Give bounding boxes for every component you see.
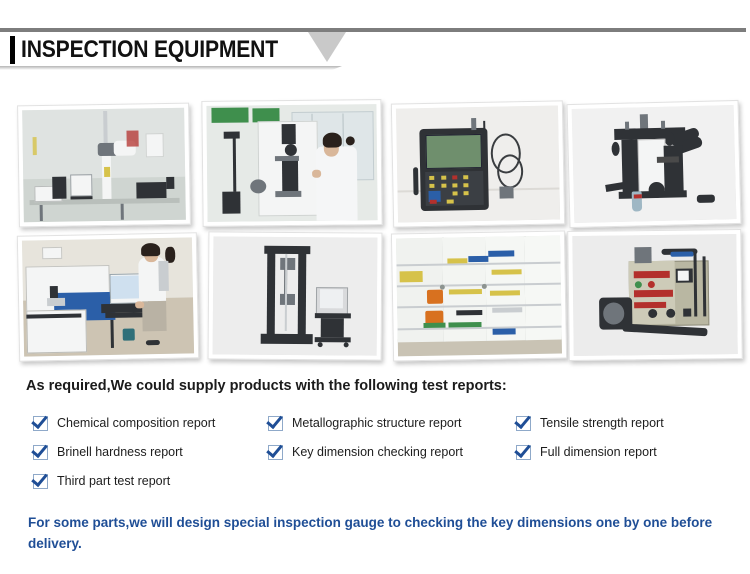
photo-image-storage-cabinets: [396, 236, 562, 357]
checkbox-checked-icon[interactable]: [516, 416, 531, 431]
report-item-tensile-strength[interactable]: Tensile strength report: [516, 416, 664, 431]
photo-card-spectrometer: [17, 232, 199, 361]
photo-card-hardness-tester: [201, 99, 382, 227]
report-item-label: Full dimension report: [540, 445, 657, 460]
equipment-photo-gallery: [0, 92, 750, 370]
photo-image-flaw-detector: [396, 105, 560, 222]
report-item-chemical-composition[interactable]: Chemical composition report: [33, 416, 215, 431]
photo-card-storage-cabinets: [391, 230, 567, 361]
checkbox-checked-icon[interactable]: [516, 445, 531, 460]
checkbox-checked-icon[interactable]: [33, 416, 48, 431]
photo-image-tensile-machine: [213, 236, 378, 355]
checkbox-checked-icon[interactable]: [33, 474, 48, 489]
checkbox-checked-icon[interactable]: [268, 416, 283, 431]
report-item-full-dimension[interactable]: Full dimension report: [516, 445, 657, 460]
photo-image-microscope: [572, 105, 737, 223]
header-notch-triangle-icon: [308, 32, 346, 62]
checkbox-checked-icon[interactable]: [33, 445, 48, 460]
checkbox-checked-icon[interactable]: [268, 445, 283, 460]
page-title: INSPECTION EQUIPMENT: [21, 35, 278, 65]
photo-image-portable-detector: [572, 234, 737, 356]
photo-image-spectrometer: [22, 237, 194, 356]
inspection-equipment-page: INSPECTION EQUIPMENT: [0, 0, 750, 574]
photo-card-microscope: [567, 100, 742, 228]
report-item-label: Key dimension checking report: [292, 445, 463, 460]
photo-image-cmm: [22, 108, 186, 223]
report-item-metallographic-structure[interactable]: Metallographic structure report: [268, 416, 462, 431]
photo-card-portable-detector: [567, 229, 743, 361]
photo-card-flaw-detector: [391, 100, 565, 227]
photo-card-cmm: [17, 103, 191, 228]
report-item-key-dimension-checking[interactable]: Key dimension checking report: [268, 445, 463, 460]
header-ribbon-shadow: [0, 66, 342, 70]
reports-heading: As required,We could supply products wit…: [26, 378, 507, 394]
photo-card-tensile-machine: [208, 231, 383, 360]
report-item-label: Tensile strength report: [540, 416, 664, 431]
report-item-label: Metallographic structure report: [292, 416, 462, 431]
page-header: INSPECTION EQUIPMENT: [0, 28, 750, 72]
report-item-label: Brinell hardness report: [57, 445, 183, 460]
footer-note: For some parts,we will design special in…: [28, 512, 718, 554]
report-item-label: Third part test report: [57, 474, 170, 489]
header-rule: [0, 28, 746, 32]
report-item-third-part-test[interactable]: Third part test report: [33, 474, 170, 489]
report-item-label: Chemical composition report: [57, 416, 215, 431]
report-item-brinell-hardness[interactable]: Brinell hardness report: [33, 445, 183, 460]
header-accent-bar: [10, 36, 15, 64]
photo-image-hardness-tester: [206, 104, 377, 222]
